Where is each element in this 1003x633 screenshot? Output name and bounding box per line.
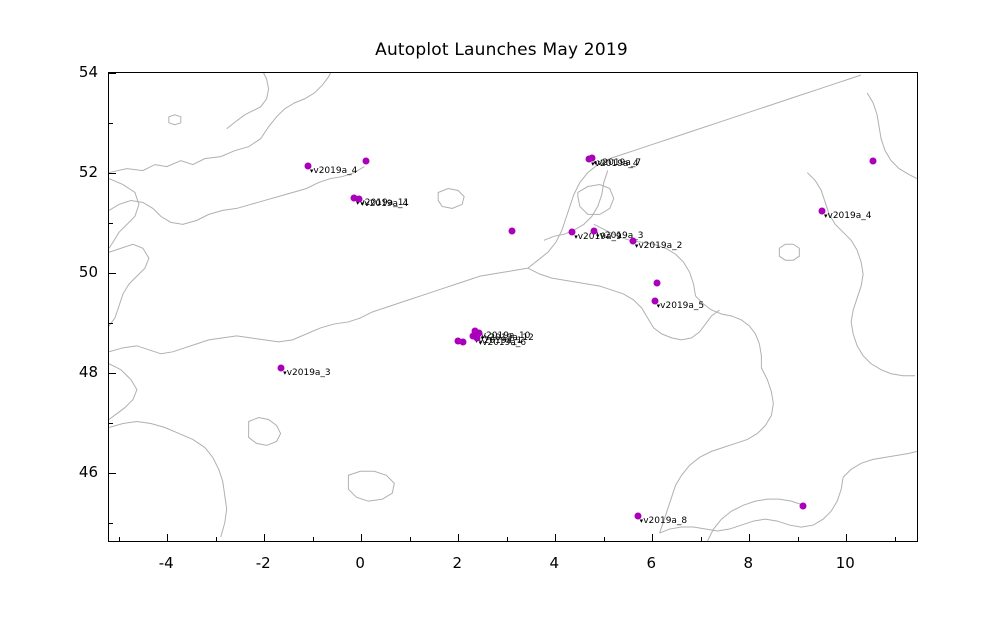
- x-tick-label: 6: [646, 554, 656, 572]
- x-axis-tick: [458, 534, 459, 541]
- y-axis-tick: [109, 423, 113, 424]
- y-tick-label: 48: [64, 363, 98, 381]
- data-point-marker[interactable]: [799, 502, 806, 509]
- coastline-map: [109, 73, 917, 541]
- y-tick-label: 46: [64, 463, 98, 481]
- data-point-marker[interactable]: [460, 339, 467, 346]
- x-axis-tick: [749, 534, 750, 541]
- y-axis-tick: [109, 173, 116, 174]
- y-axis-tick: [109, 223, 113, 224]
- x-axis-tick: [119, 537, 120, 541]
- x-tick-label: 10: [836, 554, 855, 572]
- x-tick-label: -2: [256, 554, 271, 572]
- y-tick-label: 50: [64, 263, 98, 281]
- data-point-label: v2019a_8: [640, 517, 688, 526]
- data-point-marker[interactable]: [869, 157, 876, 164]
- data-point-label: v2019a_3: [283, 369, 331, 378]
- x-axis-tick: [555, 534, 556, 541]
- data-point-label: v2019a_6: [479, 339, 527, 348]
- data-point-label: v2019a_3: [596, 232, 644, 241]
- data-point-label: v2019a_4: [361, 200, 409, 209]
- x-axis-tick: [652, 534, 653, 541]
- y-axis-tick: [109, 73, 116, 74]
- data-point-marker[interactable]: [508, 227, 515, 234]
- x-axis-tick: [410, 537, 411, 541]
- x-axis-tick: [313, 537, 314, 541]
- data-point-label: v2019a_4: [824, 212, 872, 221]
- page-title: Autoplot Launches May 2019: [0, 40, 1003, 60]
- y-axis-tick: [109, 373, 116, 374]
- x-tick-label: 0: [355, 554, 365, 572]
- data-point-label: v2019a_2: [635, 242, 683, 251]
- x-axis-tick: [604, 537, 605, 541]
- data-point-label: v2019a_4: [310, 167, 358, 176]
- y-axis-tick: [109, 123, 113, 124]
- x-axis-tick: [216, 537, 217, 541]
- y-tick-label: 54: [64, 63, 98, 81]
- y-axis-tick: [109, 473, 116, 474]
- x-axis-tick: [264, 534, 265, 541]
- data-point-marker[interactable]: [363, 157, 370, 164]
- data-point-label: v2019a_4: [591, 160, 639, 169]
- x-tick-label: -4: [159, 554, 174, 572]
- x-axis-tick: [895, 537, 896, 541]
- x-tick-label: 4: [549, 554, 559, 572]
- y-axis-tick: [109, 523, 113, 524]
- x-axis-tick: [507, 537, 508, 541]
- y-tick-label: 52: [64, 163, 98, 181]
- x-axis-tick: [361, 534, 362, 541]
- y-axis-tick: [109, 323, 113, 324]
- x-tick-label: 2: [452, 554, 462, 572]
- x-tick-label: 8: [743, 554, 753, 572]
- figure-canvas: Autoplot Launches May 2019: [0, 0, 1003, 633]
- x-axis-tick: [701, 537, 702, 541]
- data-point-marker[interactable]: [654, 280, 661, 287]
- data-point-label: v2019a_5: [657, 302, 705, 311]
- scatter-plot-axes: v2019a_4v2019a_11v2019a_4v2019a_7v2019a_…: [108, 72, 918, 542]
- x-axis-tick: [846, 534, 847, 541]
- x-axis-tick: [167, 534, 168, 541]
- x-axis-tick: [798, 537, 799, 541]
- y-axis-tick: [109, 273, 116, 274]
